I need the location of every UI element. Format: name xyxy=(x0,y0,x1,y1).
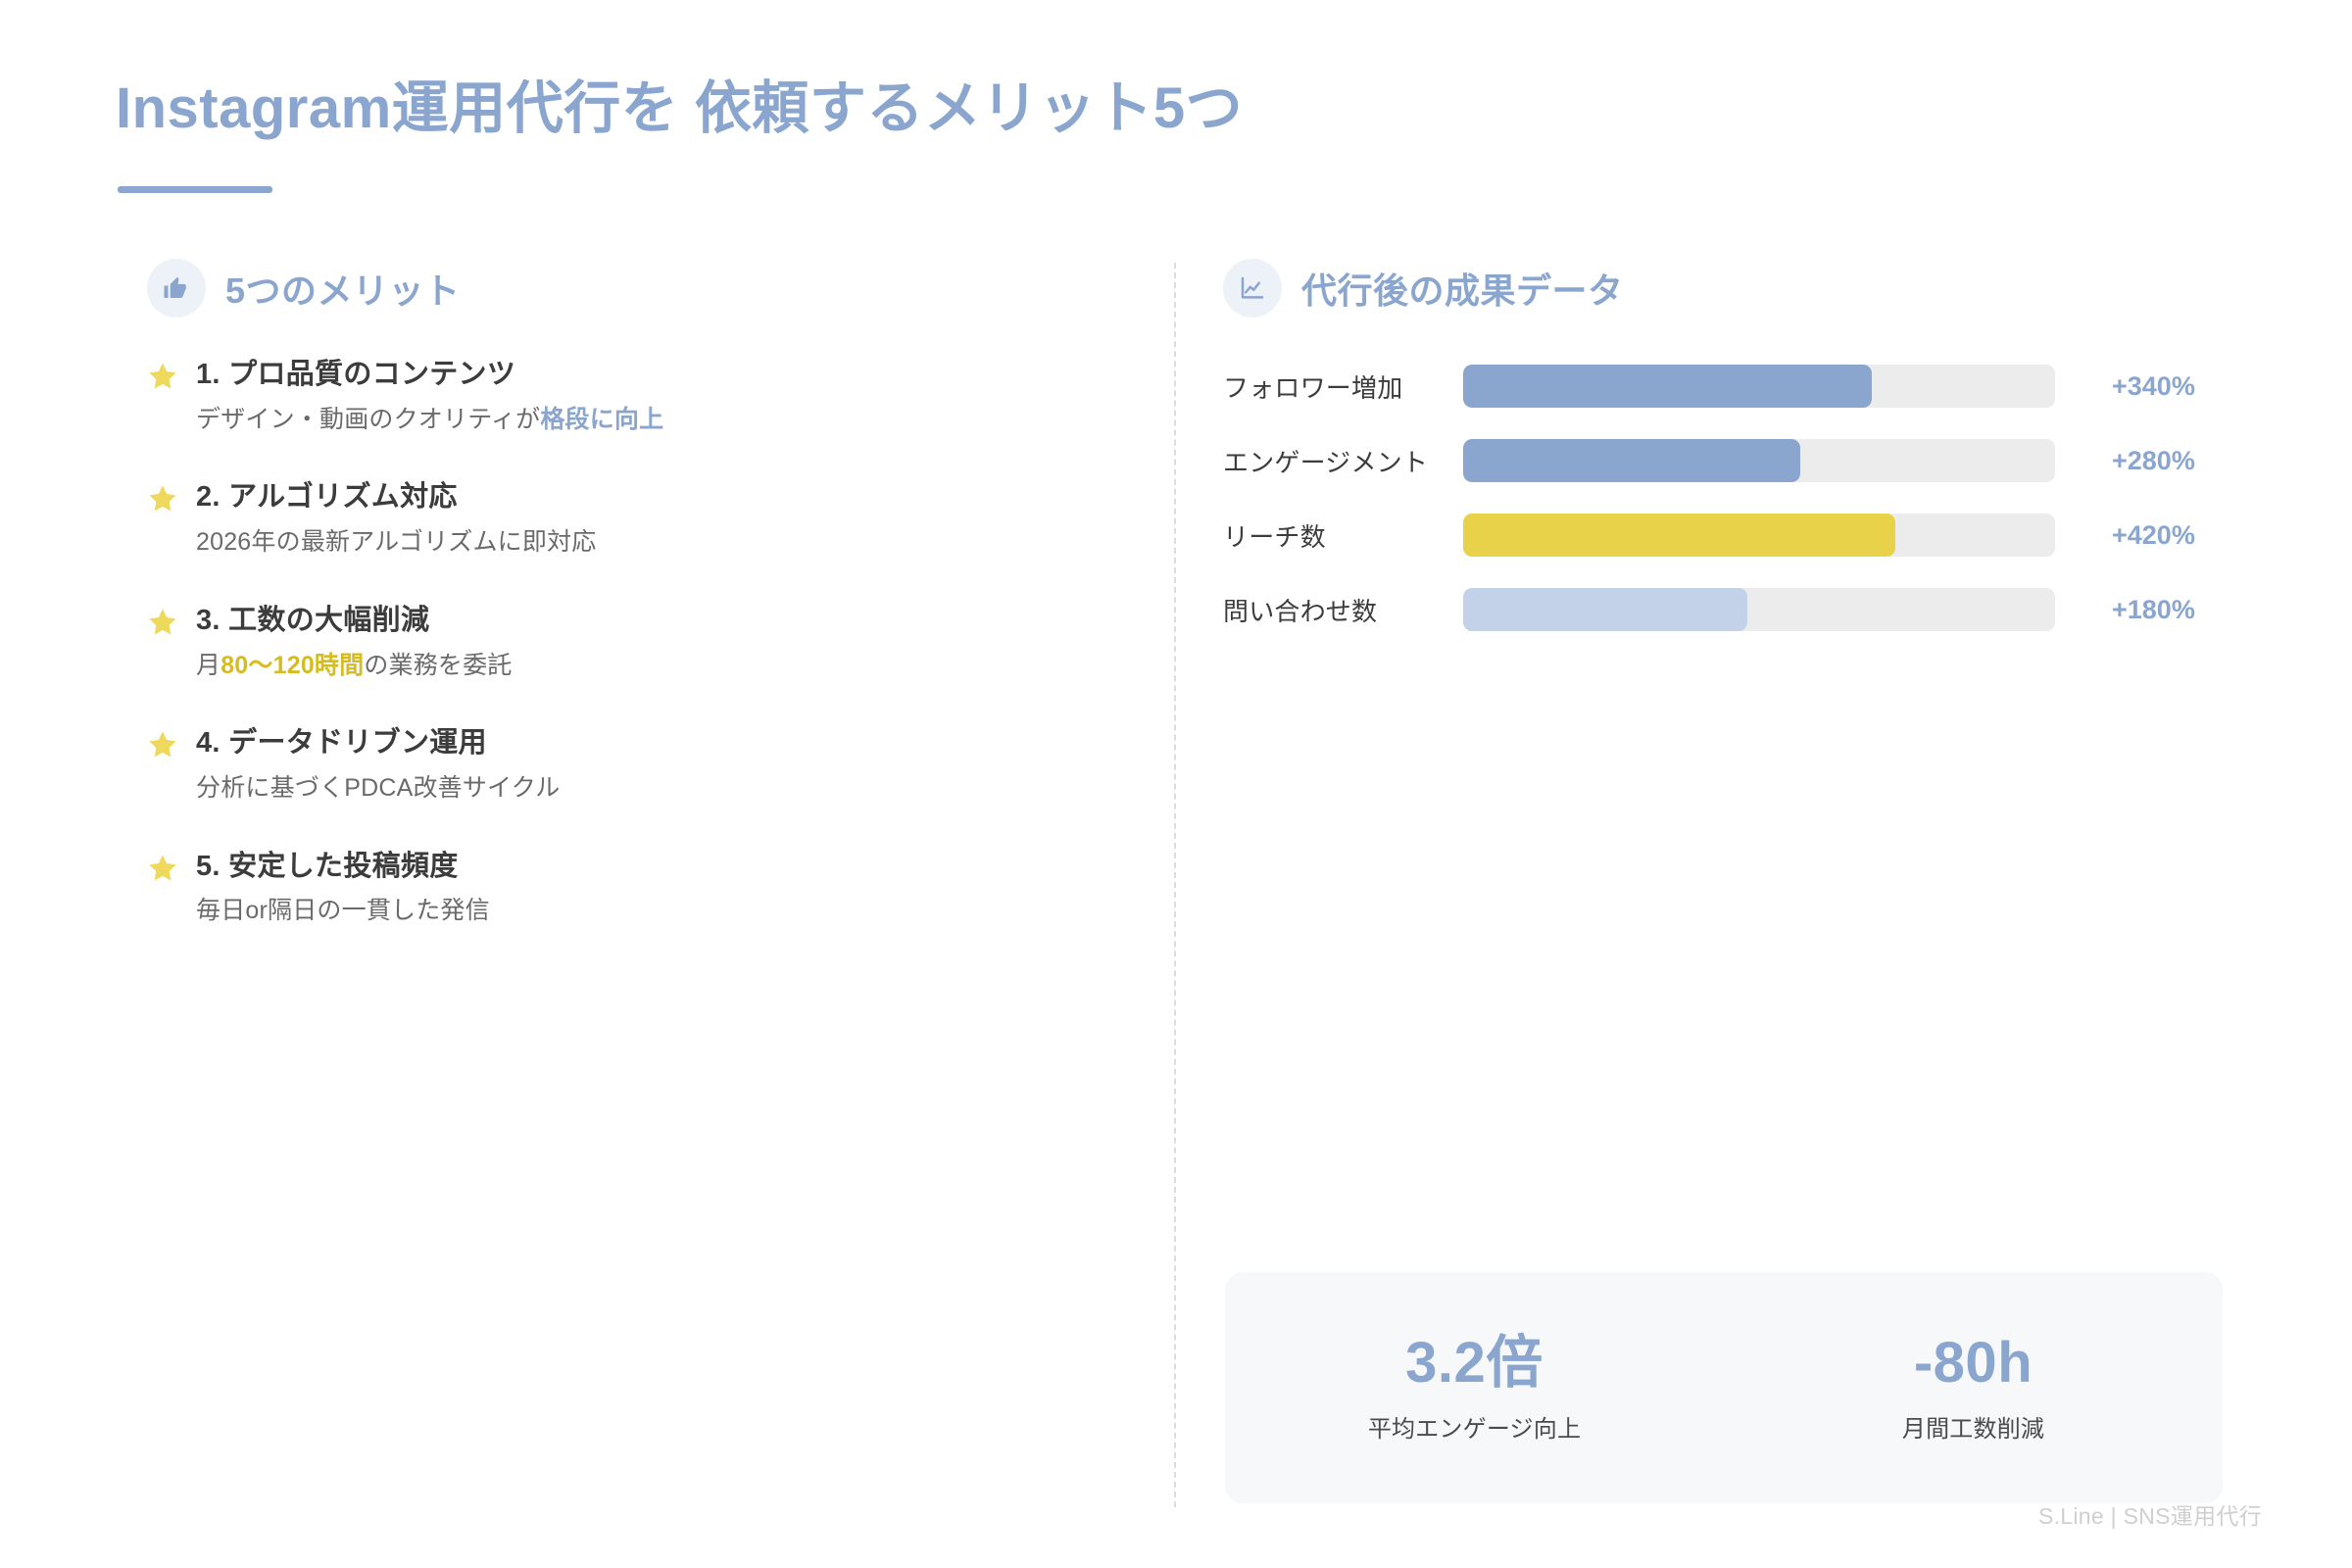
benefit-desc-text: 毎日or隔日の一貫した発信 xyxy=(196,897,490,924)
benefit-description: 毎日or隔日の一貫した発信 xyxy=(196,895,1127,928)
benefit-desc-text: 2026年の最新アルゴリズムに即対応 xyxy=(196,528,596,556)
benefit-title: 5. 安定した投稿頻度 xyxy=(196,849,1127,886)
star-icon xyxy=(147,607,178,638)
benefit-title: 1. プロ品質のコンテンツ xyxy=(196,357,1127,394)
results-section-header: 代行後の成果データ xyxy=(1223,257,2223,319)
benefit-desc-highlight: 80〜120時間 xyxy=(220,652,364,679)
benefit-description: 2026年の最新アルゴリズムに即対応 xyxy=(196,526,1127,560)
star-icon xyxy=(147,729,178,760)
bar-value-label: +280% xyxy=(2055,446,2223,476)
bar-label: リーチ数 xyxy=(1223,517,1463,554)
benefit-description: 分析に基づくPDCA改善サイクル xyxy=(196,772,1127,806)
results-panel: 代行後の成果データ フォロワー増加 +340% エンゲージメント +280% リ… xyxy=(1223,257,2223,661)
footer-brand: S.Line | SNS運用代行 xyxy=(2038,1497,2262,1531)
thumbs-up-icon xyxy=(147,259,206,318)
column-divider xyxy=(1174,263,1176,1507)
bar-fill xyxy=(1463,588,1747,631)
benefits-section-title: 5つのメリット xyxy=(225,263,461,314)
bar-value-label: +180% xyxy=(2055,595,2223,625)
stat-engagement: 3.2倍 平均エンゲージ向上 xyxy=(1225,1332,1724,1445)
benefit-list: 1. プロ品質のコンテンツ デザイン・動画のクオリティが格段に向上 2. アルゴ… xyxy=(147,357,1127,928)
table-row: フォロワー増加 +340% xyxy=(1223,363,2223,410)
stat-hours-saved: -80h 月間工数削減 xyxy=(1724,1332,2223,1445)
results-bar-chart: フォロワー増加 +340% エンゲージメント +280% リーチ数 +420% … xyxy=(1223,363,2223,633)
star-icon xyxy=(147,483,178,514)
benefit-description: デザイン・動画のクオリティが格段に向上 xyxy=(196,404,1127,437)
bar-value-label: +340% xyxy=(2055,371,2223,402)
star-icon xyxy=(147,853,178,884)
bar-track xyxy=(1463,588,2055,631)
benefit-description: 月80〜120時間の業務を委託 xyxy=(196,650,1127,683)
benefit-title: 4. データドリブン運用 xyxy=(196,725,1127,762)
bar-label: フォロワー増加 xyxy=(1223,368,1463,405)
summary-stats-card: 3.2倍 平均エンゲージ向上 -80h 月間工数削減 xyxy=(1225,1272,2223,1503)
star-icon xyxy=(147,361,178,392)
bar-label: 問い合わせ数 xyxy=(1223,592,1463,628)
table-row: エンゲージメント +280% xyxy=(1223,437,2223,484)
list-item[interactable]: 1. プロ品質のコンテンツ デザイン・動画のクオリティが格段に向上 xyxy=(147,357,1127,436)
bar-track xyxy=(1463,365,2055,408)
table-row: リーチ数 +420% xyxy=(1223,512,2223,559)
table-row: 問い合わせ数 +180% xyxy=(1223,586,2223,633)
benefit-title: 3. 工数の大幅削減 xyxy=(196,603,1127,640)
bar-fill xyxy=(1463,439,1800,482)
list-item[interactable]: 3. 工数の大幅削減 月80〜120時間の業務を委託 xyxy=(147,603,1127,682)
bar-label: エンゲージメント xyxy=(1223,443,1463,479)
list-item[interactable]: 2. アルゴリズム対応 2026年の最新アルゴリズムに即対応 xyxy=(147,479,1127,559)
benefit-desc-text: 分析に基づくPDCA改善サイクル xyxy=(196,774,560,802)
benefit-desc-text: 月 xyxy=(196,652,220,679)
results-section-title: 代行後の成果データ xyxy=(1301,263,1624,314)
bar-track xyxy=(1463,439,2055,482)
bar-fill xyxy=(1463,514,1895,557)
bar-value-label: +420% xyxy=(2055,520,2223,551)
benefit-title: 2. アルゴリズム対応 xyxy=(196,479,1127,516)
bar-track xyxy=(1463,514,2055,557)
title-underline-accent xyxy=(118,186,272,193)
benefits-section-header: 5つのメリット xyxy=(147,257,1127,319)
list-item[interactable]: 5. 安定した投稿頻度 毎日or隔日の一貫した発信 xyxy=(147,849,1127,928)
benefit-desc-text: デザイン・動画のクオリティが xyxy=(196,406,540,433)
bar-fill xyxy=(1463,365,1872,408)
line-chart-icon xyxy=(1223,259,1282,318)
stat-caption: 平均エンゲージ向上 xyxy=(1225,1409,1724,1444)
stat-value: -80h xyxy=(1724,1332,2223,1395)
stat-value: 3.2倍 xyxy=(1225,1332,1724,1395)
benefit-desc-highlight: 格段に向上 xyxy=(540,406,663,433)
benefits-panel: 5つのメリット 1. プロ品質のコンテンツ デザイン・動画のクオリティが格段に向… xyxy=(147,257,1127,971)
stat-caption: 月間工数削減 xyxy=(1724,1409,2223,1444)
page-title: Instagram運用代行を 依頼するメリット5つ xyxy=(116,76,1243,142)
benefit-desc-text-tail: の業務を委託 xyxy=(364,652,512,679)
list-item[interactable]: 4. データドリブン運用 分析に基づくPDCA改善サイクル xyxy=(147,725,1127,805)
